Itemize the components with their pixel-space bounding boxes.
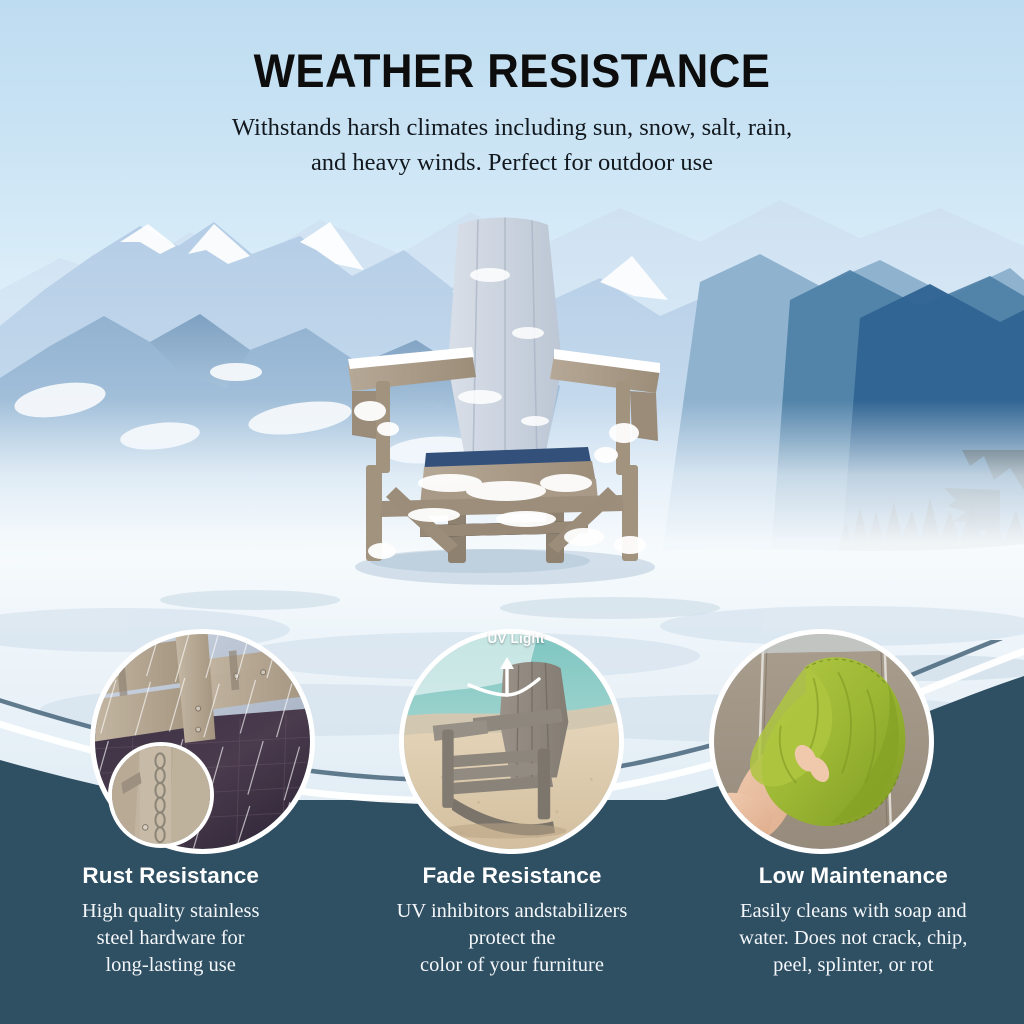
caption-fade-resistance: Fade Resistance UV inhibitors andstabili… (341, 862, 682, 979)
caption-line-2: water. Does not crack, chip, (703, 925, 1003, 952)
caption-title-fade-resistance: Fade Resistance (341, 862, 682, 889)
caption-line-3: long-lasting use (21, 952, 321, 979)
caption-rust-resistance: Rust Resistance High quality stainless s… (0, 862, 341, 979)
caption-low-maintenance: Low Maintenance Easily cleans with soap … (683, 862, 1024, 979)
low-maintenance-photo (714, 634, 929, 849)
caption-line-1: High quality stainless (21, 898, 321, 925)
feature-inset-hardware-detail[interactable] (108, 742, 214, 848)
caption-body-rust-resistance: High quality stainless steel hardware fo… (21, 898, 321, 979)
caption-body-fade-resistance: UV inhibitors andstabilizers protect the… (362, 898, 662, 979)
caption-line-1: UV inhibitors andstabilizers (362, 898, 662, 925)
caption-line-2: steel hardware for (21, 925, 321, 952)
caption-line-3: peel, splinter, or rot (703, 952, 1003, 979)
uv-light-arrow-icon (455, 645, 575, 705)
caption-title-rust-resistance: Rust Resistance (0, 862, 341, 889)
caption-title-low-maintenance: Low Maintenance (683, 862, 1024, 889)
caption-line-1: Easily cleans with soap and (703, 898, 1003, 925)
uv-light-label: UV Light (471, 631, 561, 646)
caption-line-2: protect the (362, 925, 662, 952)
caption-line-3: color of your furniture (362, 952, 662, 979)
caption-body-low-maintenance: Easily cleans with soap and water. Does … (703, 898, 1003, 979)
feature-captions-row: Rust Resistance High quality stainless s… (0, 862, 1024, 979)
infographic-canvas: WEATHER RESISTANCE Withstands harsh clim… (0, 0, 1024, 1024)
feature-image-low-maintenance[interactable] (709, 629, 934, 854)
